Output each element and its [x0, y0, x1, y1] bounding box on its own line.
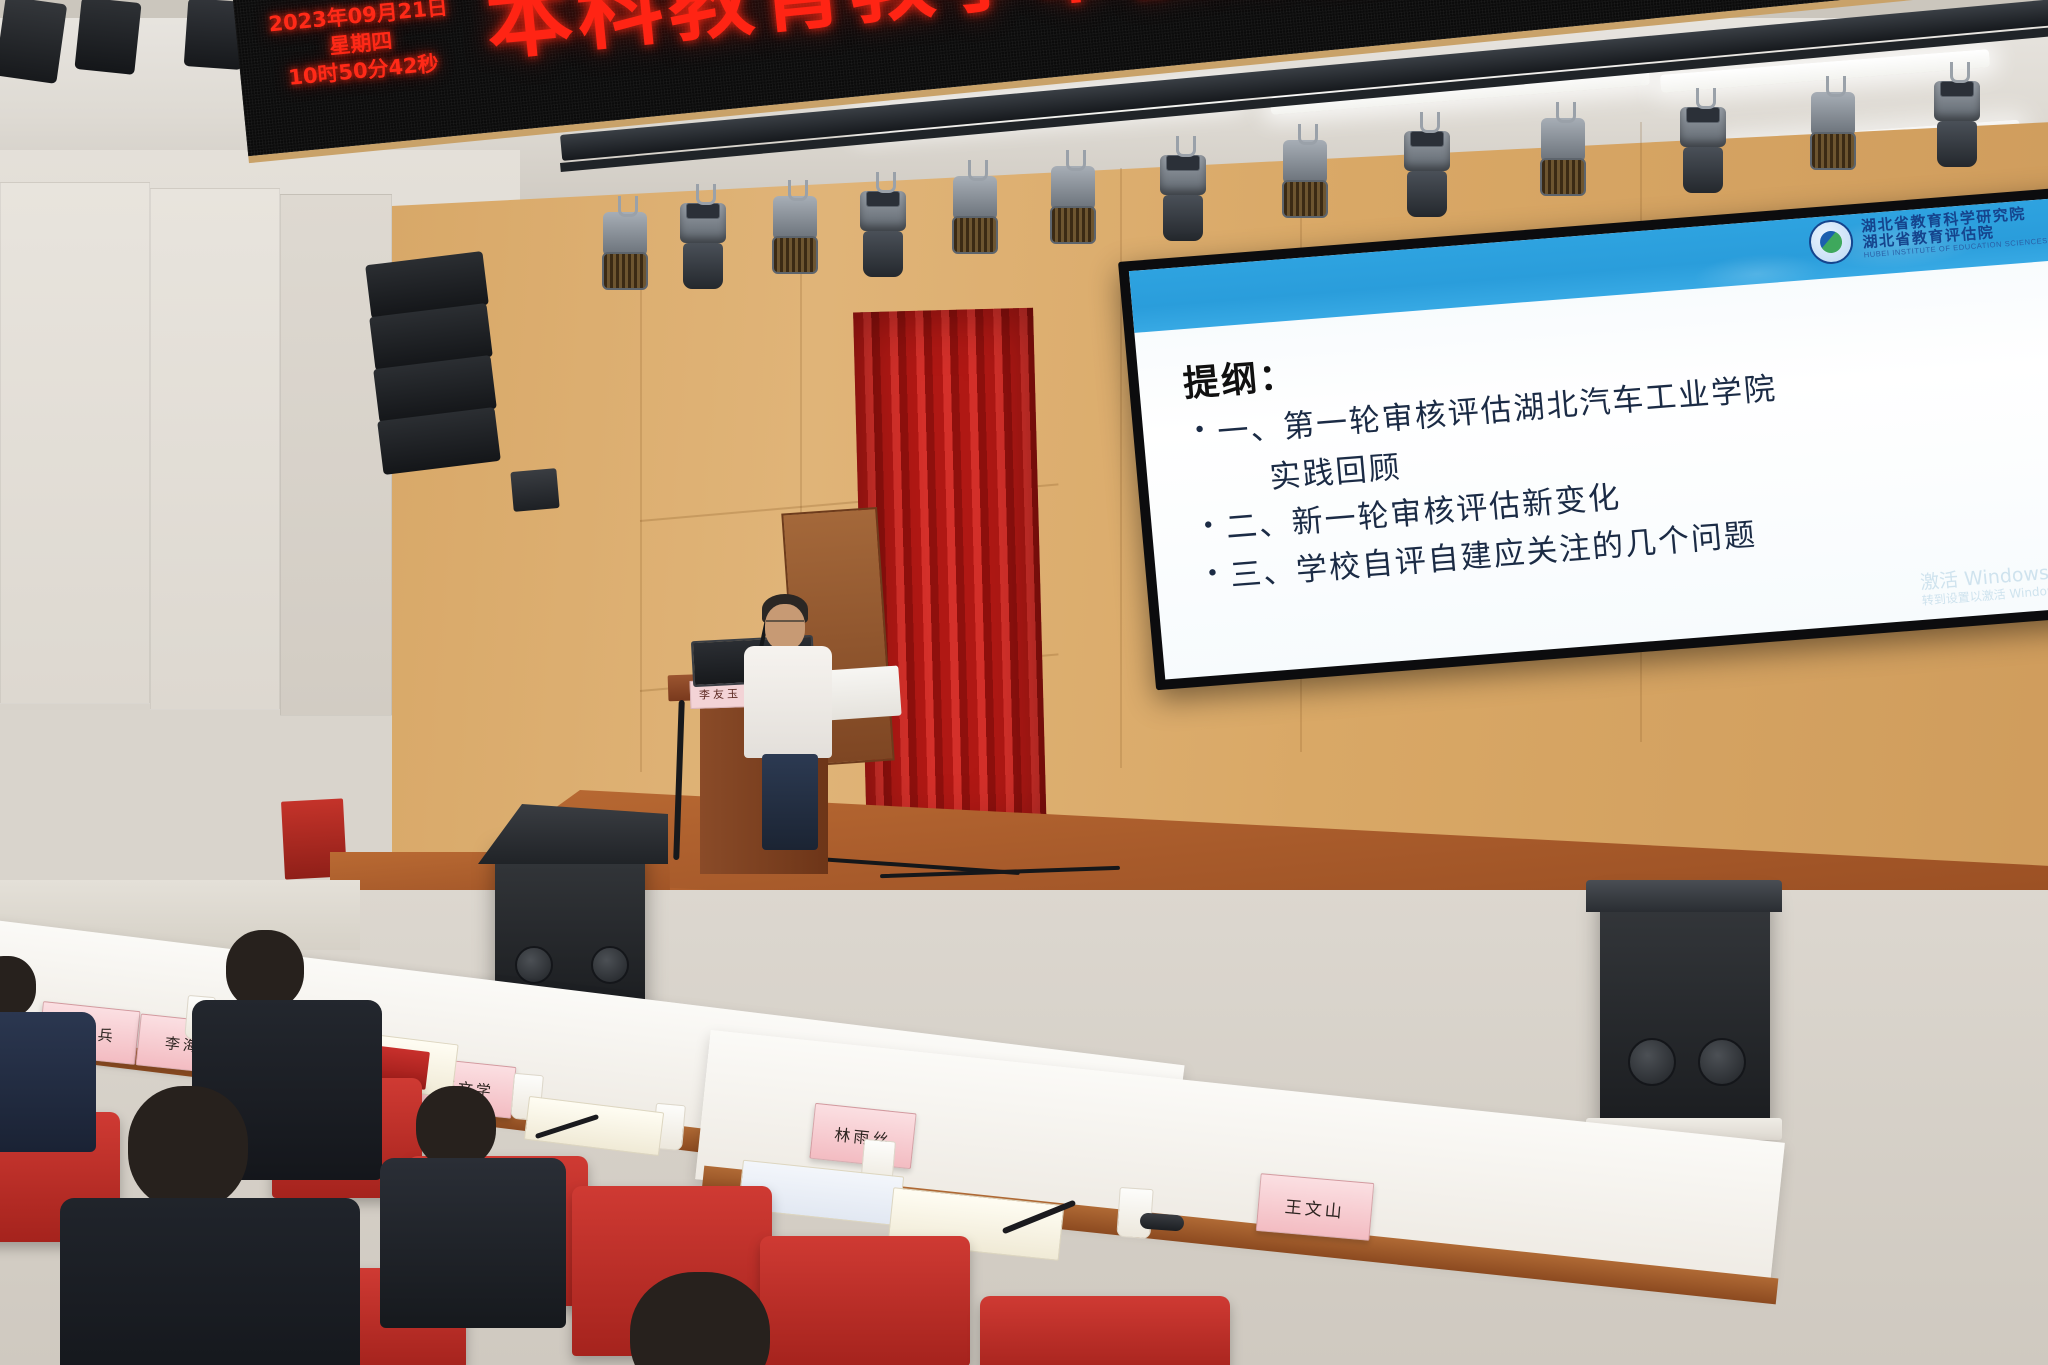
stage-par-light — [598, 212, 652, 290]
wall-panel — [0, 182, 150, 704]
lamp-head — [1683, 147, 1723, 193]
presenter-glasses — [766, 620, 804, 630]
projection-screen: 湖北省教育科学研究院 湖北省教育评估院 HUBEI INSTITUTE OF E… — [1118, 187, 2048, 691]
lamp-lens — [1686, 107, 1720, 123]
lamp-hook — [1826, 76, 1846, 97]
lamp-hook — [618, 196, 638, 217]
attendee — [0, 956, 90, 1136]
lamp-hook — [876, 172, 896, 193]
lamp-lens — [772, 236, 818, 274]
ceiling-speaker — [0, 0, 67, 84]
stage-moving-light — [1156, 152, 1210, 241]
lamp-body — [1680, 107, 1726, 147]
lamp-lens — [952, 216, 998, 254]
presenter-trousers — [762, 754, 818, 850]
stage-par-light — [1046, 166, 1100, 244]
presenter — [736, 594, 846, 844]
lamp-head — [1163, 195, 1203, 241]
lamp-body — [1404, 131, 1450, 171]
attendee-body — [0, 1012, 96, 1152]
attendee-head — [0, 956, 36, 1018]
attendee — [106, 1086, 346, 1365]
lamp-can — [1051, 166, 1095, 210]
wood-seam — [640, 212, 642, 772]
speaker-driver — [1698, 1038, 1746, 1086]
lamp-can — [603, 212, 647, 256]
slide-content: 提纲： • 一、第一轮审核评估湖北汽车工业学院 实践回顾 • 二、新一轮审核评估… — [1134, 259, 2048, 679]
lamp-can — [1541, 118, 1585, 162]
bullet-dot-icon: • — [1192, 414, 1210, 447]
attendee-body — [60, 1198, 360, 1365]
speaker-driver — [591, 946, 629, 984]
floor-speaker-right — [1600, 888, 1770, 1128]
attendee-head — [226, 930, 304, 1010]
lamp-hook — [1298, 124, 1318, 145]
screen-bezel: 湖北省教育科学研究院 湖北省教育评估院 HUBEI INSTITUTE OF E… — [1118, 187, 2048, 691]
attendee-head — [128, 1086, 248, 1210]
stage-moving-light — [1400, 128, 1454, 217]
lamp-lens — [686, 203, 720, 219]
speaker-driver — [1628, 1038, 1676, 1086]
stage-par-light — [1806, 92, 1860, 170]
stage-par-light — [1536, 118, 1590, 196]
lamp-head — [863, 231, 903, 277]
speaker-top — [1586, 880, 1782, 912]
audience-seat — [980, 1296, 1230, 1365]
lamp-head — [1937, 121, 1977, 167]
lamp-lens — [1940, 81, 1974, 97]
attendee-head — [416, 1086, 496, 1168]
lamp-lens — [602, 252, 648, 290]
wall-device — [510, 468, 559, 512]
stage-moving-light — [1930, 78, 1984, 167]
presenter-shirt — [744, 646, 832, 758]
bullet-dot-icon: • — [1205, 558, 1223, 591]
lamp-hook — [1696, 88, 1716, 109]
stage-moving-light — [676, 200, 730, 289]
ceiling-speaker — [74, 0, 141, 75]
stage-par-light — [948, 176, 1002, 254]
logo-inner-mark — [1820, 230, 1844, 254]
attendee — [600, 1272, 820, 1365]
lamp-body — [1160, 155, 1206, 195]
bullet-dot-icon: • — [1200, 510, 1218, 543]
lamp-body — [680, 203, 726, 243]
lamp-can — [773, 196, 817, 240]
lamp-lens — [1282, 180, 1328, 218]
lamp-can — [1811, 92, 1855, 136]
screen-surface: 湖北省教育科学研究院 湖北省教育评估院 HUBEI INSTITUTE OF E… — [1129, 197, 2048, 679]
lamp-lens — [1810, 132, 1856, 170]
mic-base — [1139, 1212, 1184, 1231]
lamp-can — [1283, 140, 1327, 184]
lamp-hook — [1176, 136, 1196, 157]
lamp-hook — [968, 160, 988, 181]
wall-panel — [150, 188, 280, 710]
stage-moving-light — [856, 188, 910, 277]
stage-par-light — [768, 196, 822, 274]
lamp-body — [860, 191, 906, 231]
speaker-driver — [515, 946, 553, 984]
stage-par-light — [1278, 140, 1332, 218]
lamp-lens — [1050, 206, 1096, 244]
lamp-hook — [1950, 62, 1970, 83]
lamp-lens — [866, 191, 900, 207]
attendee — [400, 1086, 540, 1276]
logo-badge-icon — [1808, 218, 1856, 265]
lamp-hook — [1420, 112, 1440, 133]
lamp-can — [953, 176, 997, 220]
photo-scene: 2023年09月21日 星期四 10时50分42秒 本科教育教学审核评估自评自建… — [0, 0, 2048, 1365]
attendee-body — [380, 1158, 566, 1328]
lamp-lens — [1166, 155, 1200, 171]
lamp-head — [683, 243, 723, 289]
lamp-hook — [788, 180, 808, 201]
lamp-hook — [1066, 150, 1086, 171]
lamp-hook — [696, 184, 716, 205]
attendee-head — [630, 1272, 770, 1365]
wood-seam — [1120, 168, 1122, 768]
stage-curtain — [853, 308, 1047, 843]
stage-moving-light — [1676, 104, 1730, 193]
name-placard: 王文山 — [1256, 1173, 1375, 1241]
lamp-hook — [1556, 102, 1576, 123]
lamp-body — [1934, 81, 1980, 121]
lamp-lens — [1410, 131, 1444, 147]
lamp-head — [1407, 171, 1447, 217]
lamp-lens — [1540, 158, 1586, 196]
